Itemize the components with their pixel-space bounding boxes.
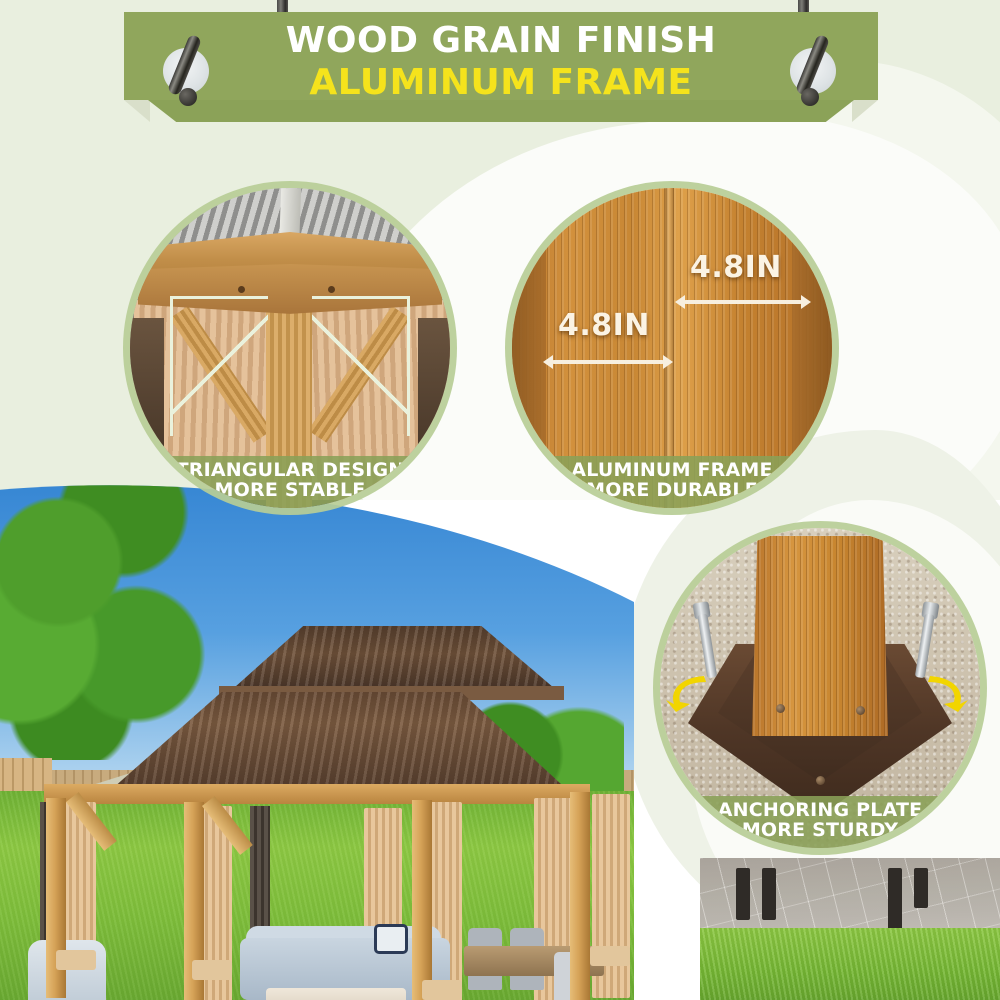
throw-pillow bbox=[374, 924, 408, 954]
gazebo-leg-1 bbox=[736, 868, 750, 920]
callout-3-caption-line2: MORE STURDY bbox=[666, 820, 974, 840]
gazebo-post-base bbox=[752, 536, 888, 736]
gazebo-post-3 bbox=[412, 800, 432, 1000]
callout-anchoring-plate: ANCHORING PLATE MORE STURDY bbox=[660, 528, 980, 848]
callout-1-caption-line2: MORE STABLE bbox=[136, 480, 444, 500]
callout-2-caption-line2: MORE DURABLE bbox=[518, 480, 826, 500]
gazebo-post-4 bbox=[570, 792, 590, 1000]
gazebo-leg-2 bbox=[762, 868, 776, 920]
dimension-label-top: 4.8IN bbox=[690, 250, 782, 285]
callout-2-caption: ALUMINUM FRAME MORE DURABLE bbox=[512, 456, 832, 508]
banner-subtitle: ALUMINUM FRAME bbox=[124, 64, 878, 102]
banner-fold-right bbox=[852, 100, 878, 122]
dimension-label-bottom: 4.8IN bbox=[558, 308, 650, 343]
callout-3-caption-line1: ANCHORING PLATE bbox=[666, 800, 974, 820]
screw-right bbox=[328, 286, 335, 293]
dimension-arrow-top bbox=[684, 300, 802, 304]
banner-lower-tab bbox=[148, 100, 854, 122]
dimension-arrow-bottom bbox=[552, 360, 664, 364]
callout-triangular-design: TRIANGULAR DESIGN MORE STABLE bbox=[130, 188, 450, 508]
plate-screw-front bbox=[816, 776, 825, 785]
curtain-tieback-4 bbox=[590, 946, 630, 966]
gazebo-top-beam bbox=[44, 784, 590, 804]
screw-left bbox=[238, 286, 245, 293]
callout-2-caption-line1: ALUMINUM FRAME bbox=[518, 460, 826, 480]
callout-aluminum-frame: 4.8IN 4.8IN ALUMINUM FRAME MORE DURABLE bbox=[512, 188, 832, 508]
triangle-hypotenuse-right bbox=[312, 296, 410, 436]
triangle-hypotenuse-left bbox=[170, 296, 268, 436]
callout-3-caption: ANCHORING PLATE MORE STURDY bbox=[660, 796, 980, 848]
header-banner: WOOD GRAIN FINISH ALUMINUM FRAME bbox=[0, 0, 1000, 170]
yellow-arrow-right-icon bbox=[924, 668, 970, 714]
callout-1-caption-line1: TRIANGULAR DESIGN bbox=[136, 460, 444, 480]
lawn-secondary bbox=[700, 928, 1000, 1000]
plate-screw-left bbox=[776, 704, 785, 713]
callout-1-caption: TRIANGULAR DESIGN MORE STABLE bbox=[130, 456, 450, 508]
coffee-table bbox=[266, 988, 406, 1000]
curtain-tieback-1 bbox=[56, 950, 96, 970]
curtain-tieback-2 bbox=[192, 960, 232, 980]
yellow-arrow-left-icon bbox=[664, 668, 710, 714]
product-infographic: TRIANGULAR DESIGN MORE STABLE 4.8IN 4.8I… bbox=[0, 0, 1000, 1000]
banner-title: WOOD GRAIN FINISH bbox=[124, 22, 878, 60]
secondary-photo-patio bbox=[700, 858, 1000, 1000]
curtain-tieback-3 bbox=[422, 980, 462, 1000]
gazebo-leg-4 bbox=[914, 868, 928, 908]
lounge-chair bbox=[28, 940, 106, 1000]
banner-fold-left bbox=[124, 100, 150, 122]
plate-screw-right bbox=[856, 706, 865, 715]
